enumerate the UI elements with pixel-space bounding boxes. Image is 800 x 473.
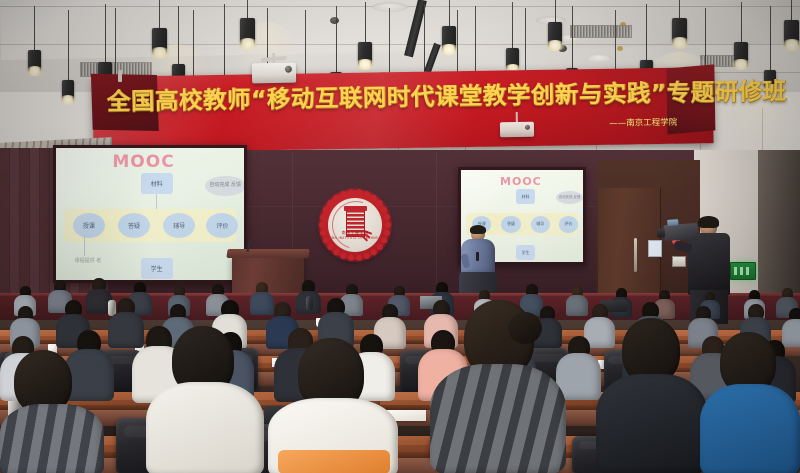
ceiling-projector xyxy=(252,63,296,84)
slide-circle-2: 答疑 xyxy=(118,213,150,238)
projector-mount xyxy=(516,112,518,122)
projector-lens xyxy=(285,66,292,73)
pendant-cord xyxy=(679,0,680,18)
pendant-glow xyxy=(356,59,375,70)
pendant-cord xyxy=(646,4,647,60)
foreground-audience-member xyxy=(268,338,398,473)
pendant-cord xyxy=(555,0,556,22)
slide-connector xyxy=(156,194,157,209)
emblem-scallop xyxy=(364,253,369,258)
pendant-light xyxy=(672,0,687,44)
lecture-hall-photo: 全国高校教师“移动互联网时代课堂教学创新与实践”专题研修班 ——南京工程学院 M… xyxy=(0,0,800,473)
pendant-light xyxy=(28,6,41,72)
fire-call-point[interactable] xyxy=(672,256,686,267)
slide-circle-3: 辅导 xyxy=(531,216,551,233)
air-vent-grille xyxy=(570,25,632,38)
pendant-cord xyxy=(770,6,771,70)
pendant-cord xyxy=(741,2,742,42)
slide-circle-4: 评价 xyxy=(559,216,579,233)
camera-lcd-screen xyxy=(667,219,678,226)
handheld-microphone xyxy=(476,252,479,261)
foreground-audience-member xyxy=(146,326,264,473)
pendant-light xyxy=(506,2,519,70)
emblem-scallop xyxy=(371,250,376,255)
foreground-audience-member xyxy=(700,332,800,473)
pendant-cord xyxy=(424,4,425,78)
foreground-audience-member xyxy=(0,350,104,473)
audience-torso xyxy=(0,404,104,473)
wall-seam xyxy=(436,152,437,302)
camera-lens-hood xyxy=(657,228,666,238)
slide-feedback-bubble: 自动完成 反馈 xyxy=(205,176,244,196)
slide-circle-3: 辅导 xyxy=(163,213,195,238)
slide-top-box: 材料 xyxy=(516,189,536,204)
audience-torso xyxy=(700,384,800,473)
pendant-light xyxy=(152,0,167,54)
pendant-cord xyxy=(336,6,337,72)
emblem-scallop xyxy=(356,255,361,260)
pendant-cord xyxy=(572,6,573,68)
pendant-cord xyxy=(105,4,106,62)
cameraman-torso xyxy=(688,233,730,295)
pendant-cord xyxy=(159,0,160,28)
slide-circle-1: 授课 xyxy=(73,213,105,238)
pendant-cord xyxy=(512,2,513,48)
pendant-cord xyxy=(68,10,69,80)
left-projection-screen: MOOC 材料 自动完成 反馈 授课 答疑 辅导 评价 课程提供 者 学生 xyxy=(53,145,247,283)
audience-scarf xyxy=(278,450,390,473)
lectern-top xyxy=(226,249,309,258)
slide-heading: MOOC xyxy=(112,152,174,172)
audience-torso xyxy=(146,382,264,473)
pendant-cord xyxy=(224,4,225,76)
audience-torso xyxy=(430,364,566,473)
banner-subtitle: ——南京工程学院 xyxy=(609,116,677,129)
slide-connector xyxy=(84,235,85,256)
pendant-light xyxy=(734,2,748,66)
foreground-audience-member xyxy=(430,300,566,473)
projector-lens xyxy=(525,125,530,130)
slide-feedback-bubble: 自动完成 反馈 xyxy=(556,191,583,204)
ceiling-projector-secondary xyxy=(500,122,534,138)
presenter xyxy=(458,226,498,298)
pendant-light xyxy=(784,0,799,46)
left-screen-surface: MOOC 材料 自动完成 反馈 授课 答疑 辅导 评价 课程提供 者 学生 xyxy=(56,148,244,280)
audience-torso xyxy=(596,374,708,473)
slide-left-note: 课程提供 者 xyxy=(64,258,113,264)
pendant-cord xyxy=(34,6,35,50)
pendant-cord xyxy=(365,2,366,42)
video-camera xyxy=(663,223,698,241)
ceiling-recess-light xyxy=(586,54,612,62)
event-banner: 全国高校教师“移动互联网时代课堂教学创新与实践”专题研修班 ——南京工程学院 xyxy=(92,67,713,153)
slide-circle-4: 评价 xyxy=(206,213,238,238)
pendant-cord xyxy=(178,6,179,64)
door-notice-sign xyxy=(648,240,662,257)
pendant-cord xyxy=(791,0,792,20)
pendant-light xyxy=(62,10,74,101)
pendant-cord xyxy=(449,0,450,26)
slide-bottom-box: 学生 xyxy=(141,258,173,279)
banner-hanger-rod xyxy=(118,70,122,82)
pendant-light xyxy=(548,0,562,47)
audience-hair-bun xyxy=(508,312,542,344)
pendant-glow xyxy=(60,95,76,105)
desk-item-thermos xyxy=(306,296,313,311)
door-handle[interactable] xyxy=(634,238,637,272)
slide-circle-2: 答疑 xyxy=(501,216,521,233)
pendant-light xyxy=(240,0,255,45)
pendant-glow xyxy=(781,39,800,51)
pendant-light xyxy=(172,6,185,86)
presenter-hair xyxy=(470,225,486,234)
emblem-name-en: NANJING INSTITUTE OF TECHNOLOGY xyxy=(320,236,390,240)
pendant-glow xyxy=(26,66,44,76)
cameraman-hair xyxy=(698,216,719,228)
pendant-glow xyxy=(732,59,751,70)
foreground-audience-member xyxy=(596,318,708,473)
emblem-scallop xyxy=(377,244,382,249)
banner-title: 全国高校教师“移动互联网时代课堂教学创新与实践”专题研修班 xyxy=(107,81,707,114)
institution-emblem: 南京工程学院 NANJING INSTITUTE OF TECHNOLOGY xyxy=(320,190,390,260)
pendant-light xyxy=(358,2,372,66)
slide-bottom-box: 学生 xyxy=(516,245,536,260)
pendant-glow xyxy=(546,40,565,51)
slide-heading: MOOC xyxy=(500,175,542,188)
pendant-cord xyxy=(247,0,248,18)
slide-top-box: 材料 xyxy=(141,173,173,194)
emergency-exit-sign xyxy=(730,262,756,280)
